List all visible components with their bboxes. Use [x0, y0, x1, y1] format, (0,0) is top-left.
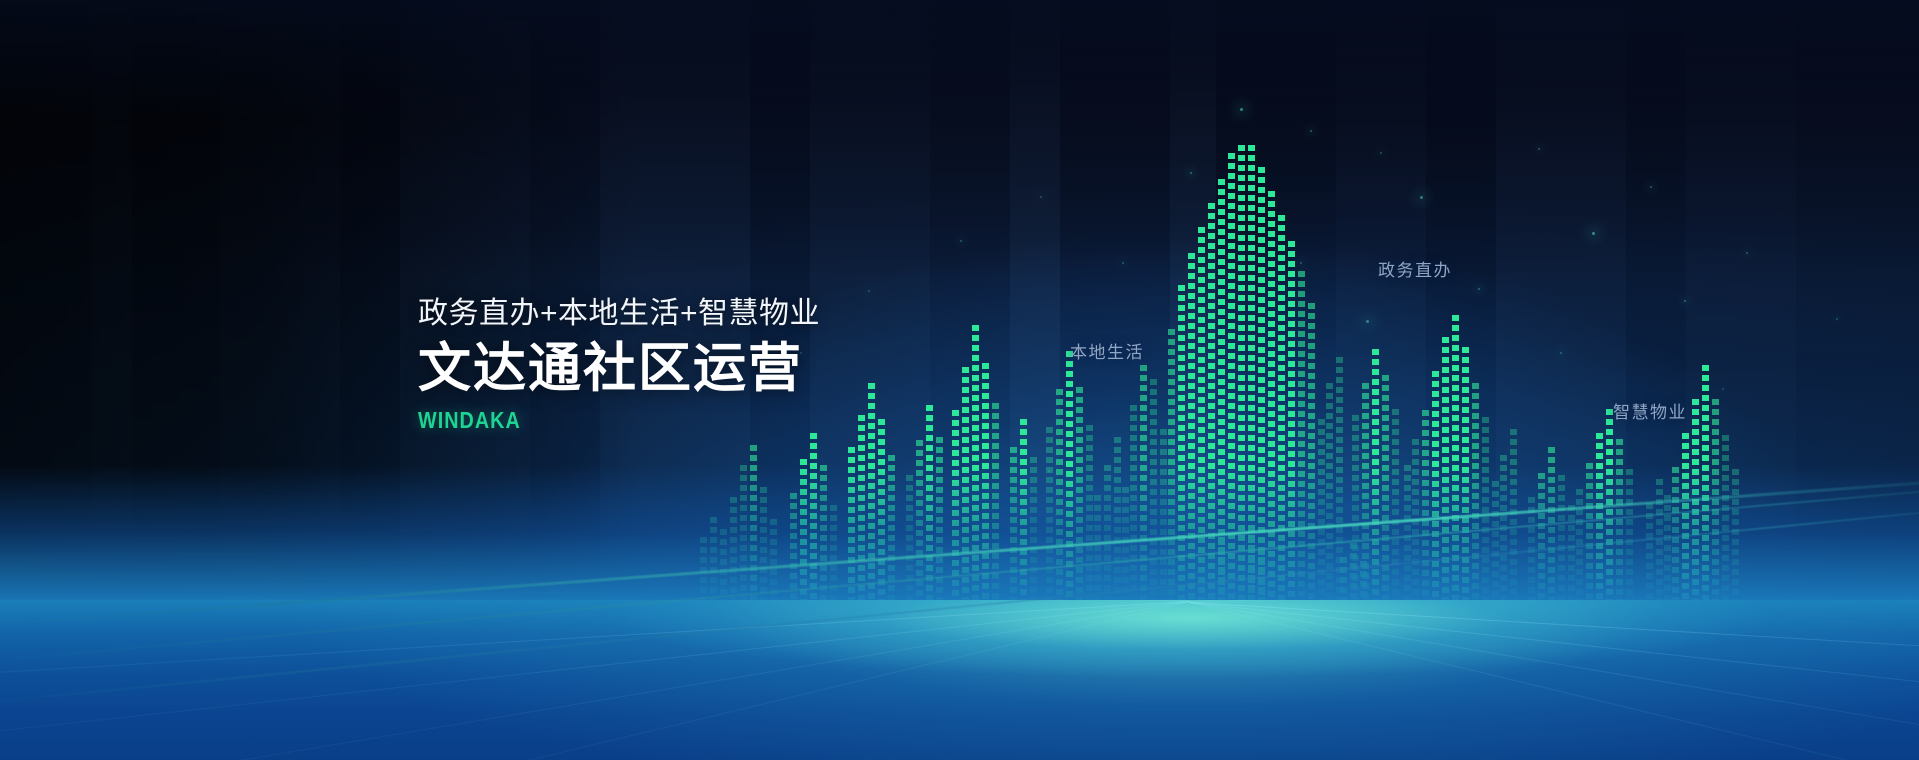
hero-subtitle: 政务直办+本地生活+智慧物业 — [418, 296, 820, 331]
perspective-ray — [1190, 602, 1919, 760]
building-dot-column — [858, 415, 865, 615]
hero-copy-block: 政务直办+本地生活+智慧物业 文达通社区运营 WINDAKA — [418, 296, 820, 434]
perspective-ray — [0, 601, 1190, 760]
building-dot-column — [1576, 489, 1583, 615]
building-dot-column — [1372, 349, 1379, 615]
building-dot-column — [1692, 399, 1699, 615]
building-dot-column — [820, 465, 827, 615]
building-dot-column — [1606, 409, 1613, 615]
building-dot-column — [1568, 505, 1575, 615]
building-dot-column — [1510, 429, 1517, 615]
building-dot-column — [1326, 383, 1333, 615]
perspective-ray — [1190, 602, 1919, 760]
building-dot-column — [1626, 469, 1633, 615]
building-dot-column — [972, 325, 979, 615]
building-dot-column — [1722, 435, 1729, 615]
building-dot-column — [1258, 167, 1265, 615]
building-dot-column — [1482, 417, 1489, 615]
building-dot-column — [1076, 387, 1083, 615]
hero-title: 文达通社区运营 — [418, 341, 820, 397]
tag-smart-estate: 智慧物业 — [1613, 398, 1687, 423]
building-dot-column — [1308, 303, 1315, 615]
building-dot-column — [1538, 473, 1545, 615]
building-dot-column — [1656, 479, 1663, 615]
building-dot-column — [760, 487, 767, 615]
building-dot-column — [1150, 379, 1157, 615]
building-dot-column — [1268, 191, 1275, 615]
tag-gov-service: 政务直办 — [1378, 256, 1452, 281]
city-top-fade — [0, 0, 1919, 120]
perspective-ray — [0, 601, 1190, 760]
building-dot-column — [800, 459, 807, 615]
building-dot-column — [1188, 253, 1195, 615]
building-dot-column — [952, 410, 959, 615]
building-dot-column — [1452, 315, 1459, 615]
horizon-glow — [0, 600, 1919, 688]
building-dot-column — [1160, 429, 1167, 615]
perspective-ray — [0, 601, 1190, 760]
building-dot-column — [1462, 347, 1469, 615]
building-dot-column — [1122, 487, 1129, 615]
building-dot-column — [1198, 227, 1205, 615]
perspective-ray — [1190, 600, 1919, 603]
building-dot-column — [1288, 241, 1295, 615]
building-dot-column — [1140, 365, 1147, 615]
perspective-ray — [0, 600, 1190, 602]
building-dot-column — [1010, 447, 1017, 615]
building-dot-column — [1586, 463, 1593, 615]
building-dot-column — [848, 447, 855, 615]
building-dot-column — [1104, 465, 1111, 615]
building-dot-column — [1298, 271, 1305, 615]
building-dot-column — [1548, 447, 1555, 615]
building-dot-column — [1682, 433, 1689, 615]
brand-wordmark: WINDAKA — [418, 407, 764, 434]
building-dot-column — [1382, 375, 1389, 615]
building-dot-column — [982, 363, 989, 615]
building-dot-column — [1432, 371, 1439, 615]
building-dot-column — [1094, 495, 1101, 615]
building-dot-column — [1616, 439, 1623, 615]
building-dot-column — [1500, 455, 1507, 615]
building-dot-column — [1318, 419, 1325, 615]
building-dot-column — [868, 383, 875, 615]
building-dot-column — [1066, 351, 1073, 615]
building-dot-column — [1422, 410, 1429, 615]
hero-banner: 本地生活政务直办智慧物业 政务直办+本地生活+智慧物业 文达通社区运营 WIND… — [0, 0, 1919, 760]
perspective-ray — [0, 601, 1190, 732]
building-dot-column — [1412, 439, 1419, 615]
building-dot-column — [740, 465, 747, 615]
building-dot-column — [1030, 457, 1037, 615]
building-dot-column — [1672, 467, 1679, 615]
building-dot-column — [1732, 469, 1739, 615]
building-dot-column — [1528, 497, 1535, 615]
building-dot-column — [1056, 389, 1063, 615]
building-dot-column — [1046, 427, 1053, 615]
building-dot-column — [1712, 399, 1719, 615]
building-dot-column — [962, 367, 969, 615]
tag-local-life: 本地生活 — [1070, 338, 1144, 363]
building-dot-column — [830, 505, 837, 615]
building-dot-column — [1208, 203, 1215, 615]
perspective-ray — [1190, 602, 1919, 760]
building-dot-column — [926, 405, 933, 615]
building-dot-column — [1130, 405, 1137, 615]
building-dot-column — [1492, 481, 1499, 615]
building-dot-column — [1472, 383, 1479, 615]
building-dot-column — [790, 493, 797, 615]
building-dot-column — [1664, 495, 1671, 615]
building-dot-column — [1646, 503, 1653, 615]
building-dot-column — [750, 445, 757, 615]
building-dot-column — [878, 419, 885, 615]
building-dot-column — [1558, 475, 1565, 615]
building-dot-column — [1442, 337, 1449, 615]
building-dot-column — [1178, 285, 1185, 615]
building-dot-column — [730, 497, 737, 615]
building-dot-column — [1168, 329, 1175, 615]
perspective-ray — [0, 600, 1190, 602]
perspective-ground-plane — [0, 600, 1919, 760]
perspective-ray — [1190, 602, 1919, 733]
building-dot-column — [1086, 425, 1093, 615]
building-dot-column — [936, 437, 943, 615]
building-dot-column — [1404, 465, 1411, 615]
building-dot-column — [1278, 215, 1285, 615]
building-dot-column — [916, 440, 923, 615]
building-dot-column — [810, 433, 817, 615]
building-dot-column — [906, 475, 913, 615]
perspective-ray — [1190, 600, 1919, 603]
building-dot-column — [1702, 365, 1709, 615]
building-dot-column — [1114, 437, 1121, 615]
building-dot-column — [1392, 409, 1399, 615]
building-dot-column — [1596, 433, 1603, 615]
building-dot-column — [992, 403, 999, 615]
building-dot-column — [1020, 419, 1027, 615]
dot-matrix-city-skyline — [0, 0, 1919, 615]
building-dot-column — [888, 455, 895, 615]
